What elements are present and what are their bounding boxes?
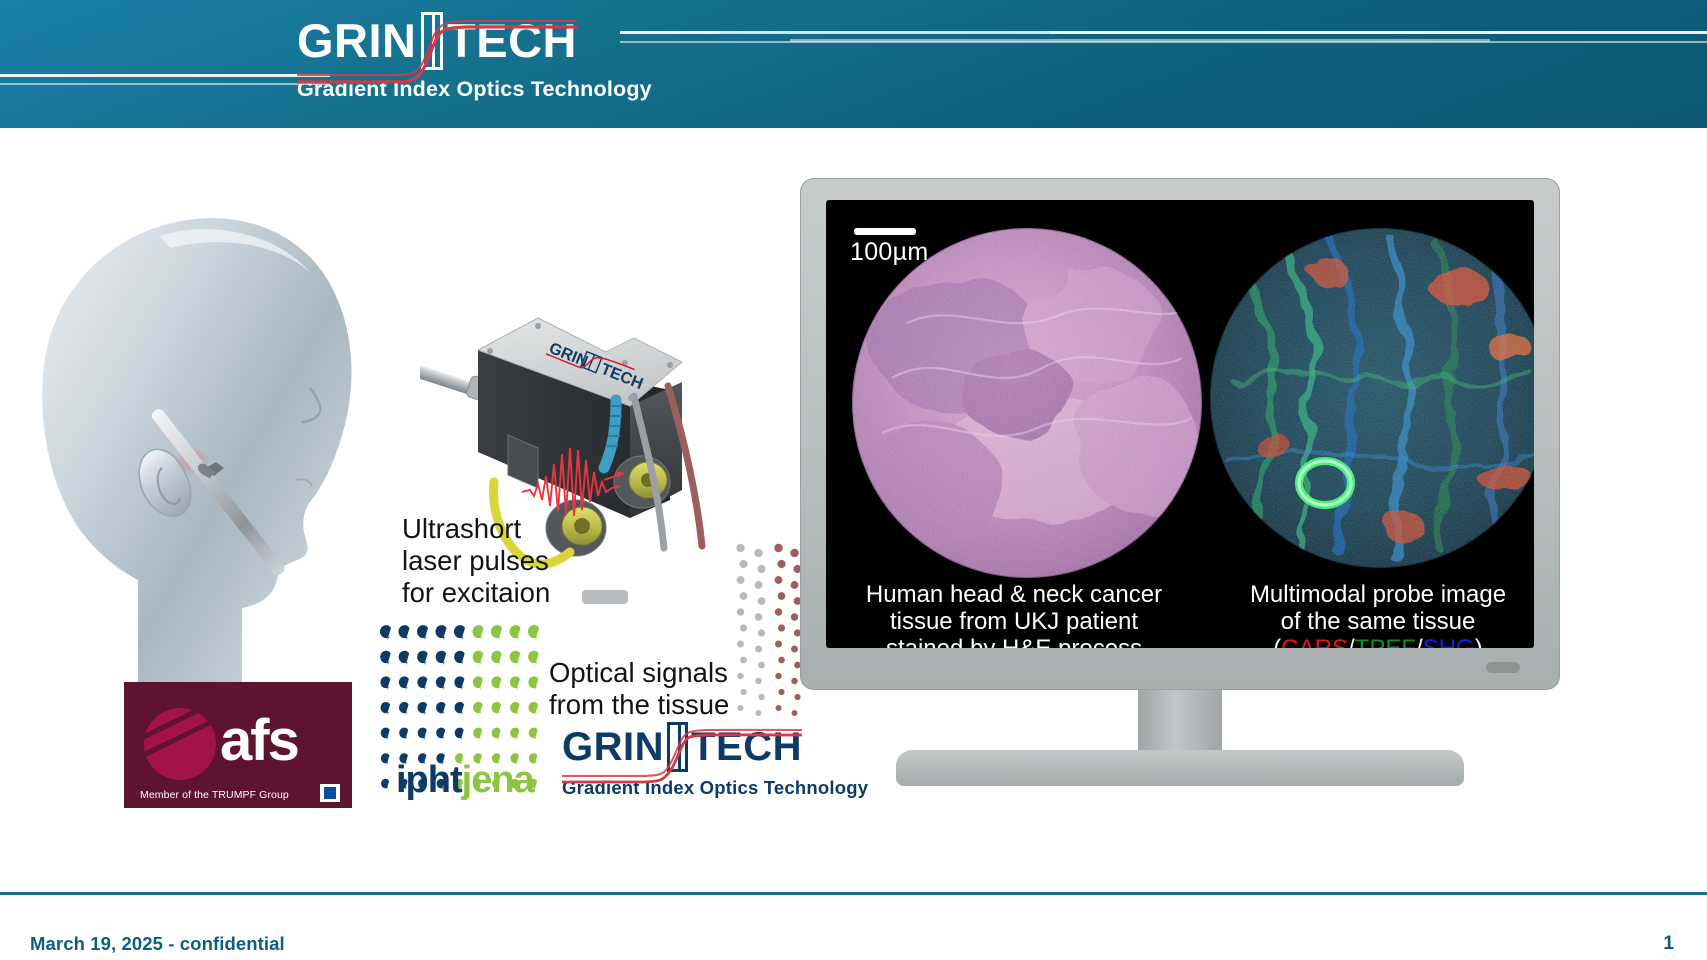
signal-dot	[755, 646, 762, 653]
modality-tpef: TPEF	[1355, 635, 1416, 648]
afs-member-line: Member of the TRUMPF Group	[140, 789, 289, 801]
slide-header: GRIN TECH Gradient Index Optics Technolo…	[0, 0, 1707, 128]
monitor-stand-base	[896, 750, 1464, 786]
caption-right: Multimodal probe image of the same tissu…	[1208, 582, 1534, 648]
signal-dot	[778, 657, 785, 664]
modality-cars: CARS	[1281, 635, 1348, 648]
signal-arc-glyph	[528, 676, 538, 690]
signal-dot	[740, 592, 748, 600]
afs-wordmark: afs	[220, 712, 298, 770]
signal-dot	[791, 646, 798, 653]
signal-dot	[757, 565, 765, 573]
label-signals: Optical signals from the tissue	[549, 657, 729, 721]
grintech-tagline: Gradient Index Optics Technology	[297, 77, 577, 102]
microscopy-image-multimodal	[1210, 228, 1534, 568]
signal-dot	[739, 560, 747, 568]
signal-dot	[737, 576, 745, 584]
signal-arc-glyph	[509, 625, 520, 640]
header-rule-right-4	[790, 39, 1490, 42]
signal-arc-glyph	[381, 753, 390, 765]
signal-dot	[778, 624, 785, 631]
signal-dot	[738, 705, 744, 711]
modality-sep-2: /	[1416, 635, 1423, 648]
signal-arc-glyph	[491, 651, 502, 665]
multimodal-image-svg	[1210, 228, 1534, 568]
signal-dot	[737, 641, 744, 648]
signal-arc-glyph	[510, 651, 521, 665]
microscopy-image-he	[852, 228, 1202, 578]
caption-right-line1: Multimodal probe image	[1208, 582, 1534, 609]
signal-dot	[775, 673, 781, 679]
signal-dot	[755, 678, 761, 684]
modality-shg: SHG	[1423, 635, 1475, 648]
signal-arc-glyph	[473, 651, 484, 665]
signal-dot	[790, 549, 798, 557]
signal-arc-glyph	[399, 676, 409, 690]
signal-arc-glyph	[417, 676, 427, 690]
caption-left: Human head & neck cancer tissue from UKJ…	[844, 582, 1184, 648]
scale-bar	[854, 228, 916, 235]
grintech-bottom-gradient-box	[667, 722, 688, 772]
signal-dot	[756, 710, 762, 716]
signal-arc-glyph	[380, 676, 390, 690]
slide-footer: March 19, 2025 - confidential 1	[0, 898, 1707, 960]
signal-arc-glyph	[399, 651, 410, 665]
footer-page-number: 1	[1663, 933, 1674, 955]
grintech-bottom-word-tech: TECH	[691, 729, 802, 765]
signal-dot	[758, 629, 765, 636]
signal-dot	[736, 544, 744, 552]
signal-dot-columns	[722, 540, 802, 730]
header-rule-left-2	[0, 83, 330, 85]
afs-logo: afs Member of the TRUMPF Group	[124, 682, 352, 808]
signal-arc-glyph	[473, 676, 483, 690]
signal-dot	[740, 657, 747, 664]
signal-arc-glyph	[398, 625, 409, 640]
slide: GRIN TECH Gradient Index Optics Technolo…	[0, 0, 1707, 960]
header-rule-left-1	[0, 74, 330, 77]
laser-pulse-waveform-icon	[520, 440, 630, 520]
monitor-stand-neck	[1138, 690, 1222, 756]
signal-dot	[758, 597, 766, 605]
signal-arc-glyph	[381, 702, 391, 715]
he-image-svg	[852, 228, 1202, 578]
signal-arc-glyph	[381, 779, 389, 790]
signal-dot	[791, 581, 799, 589]
grintech-bottom-tagline: Gradient Index Optics Technology	[562, 777, 802, 799]
signal-dot	[778, 592, 786, 600]
signal-dot	[755, 581, 763, 589]
signal-dot	[791, 678, 797, 684]
caption-right-modalities: (CARS/TPEF/SHG)	[1208, 636, 1534, 648]
trumpf-mark-icon	[320, 784, 340, 802]
signal-dot	[776, 705, 782, 711]
signal-arc-glyph	[380, 625, 391, 640]
signal-arc-glyph	[435, 625, 446, 640]
grintech-bottom-box-divider	[678, 725, 681, 769]
pulse-arrow-head	[616, 471, 624, 478]
signal-dot	[792, 710, 798, 716]
signal-dot	[775, 576, 783, 584]
ipht-jena-logo: iphtjena	[396, 712, 546, 802]
ipht-word-part-a: ipht	[396, 759, 462, 801]
signal-dot	[791, 613, 798, 620]
ipht-wordmark: iphtjena	[396, 759, 534, 802]
signal-arc-glyph	[381, 728, 390, 740]
signal-arc-glyph	[528, 651, 539, 665]
scale-bar-label: 100µm	[850, 238, 928, 267]
signal-dot	[754, 549, 762, 557]
signal-arc-glyph	[436, 651, 447, 665]
signal-arc-glyph	[472, 625, 483, 640]
signal-arc-glyph	[454, 625, 465, 640]
fiber-ferrule	[582, 590, 628, 604]
signal-arc-glyph	[417, 625, 428, 640]
label-excitation: Ultrashort laser pulses for excitaion	[402, 513, 550, 609]
signal-arc-glyph	[436, 676, 446, 690]
grintech-word-tech: TECH	[447, 20, 577, 62]
signal-dot	[758, 662, 765, 669]
signal-dot	[737, 608, 744, 615]
signal-dot	[758, 694, 764, 700]
modality-sep-1: /	[1348, 635, 1355, 648]
head-silhouette	[42, 218, 351, 762]
footer-divider	[0, 892, 1707, 895]
signal-arc-glyph	[380, 651, 391, 665]
afs-sphere-icon	[144, 708, 216, 780]
grintech-box-divider	[432, 15, 435, 67]
grintech-bottom-row: GRIN TECH	[562, 722, 802, 772]
signal-dot	[737, 673, 743, 679]
signal-dot	[740, 624, 747, 631]
signal-arc-glyph	[510, 676, 520, 690]
signal-dot	[774, 544, 782, 552]
caption-right-line2: of the same tissue	[1208, 609, 1534, 636]
grintech-logo-bottom: GRIN TECH Gradient Index Optics Technolo…	[562, 722, 802, 810]
ipht-word-part-b: jena	[462, 759, 534, 801]
header-rule-right-2	[720, 31, 1050, 34]
signal-dot	[740, 689, 746, 695]
grintech-bottom-word-grin: GRIN	[562, 729, 664, 765]
paren-close: )	[1475, 635, 1483, 648]
monitor-power-indicator	[1486, 662, 1520, 673]
mannequin-head-illustration	[10, 150, 430, 770]
monitor-bezel: 100µm Human head & neck cancer tissue fr…	[800, 178, 1560, 690]
signal-dot	[755, 613, 762, 620]
signal-dot	[775, 608, 782, 615]
grintech-word-grin: GRIN	[297, 20, 417, 62]
monitor-screen: 100µm Human head & neck cancer tissue fr…	[826, 200, 1534, 648]
signal-arc-glyph	[528, 625, 539, 640]
grintech-logo-row: GRIN TECH	[297, 12, 577, 70]
footer-date-confidential: March 19, 2025 - confidential	[30, 933, 285, 955]
signal-dot	[778, 689, 784, 695]
signal-arc-glyph	[454, 676, 464, 690]
pulse-path	[522, 448, 620, 516]
signal-arc-glyph	[491, 625, 502, 640]
signal-dot	[775, 641, 782, 648]
grintech-logo-header: GRIN TECH Gradient Index Optics Technolo…	[297, 12, 577, 118]
grintech-gradient-box	[421, 12, 444, 70]
signal-arc-glyph	[454, 651, 465, 665]
monitor: 100µm Human head & neck cancer tissue fr…	[800, 178, 1560, 698]
head-svg	[10, 150, 430, 770]
signal-dot	[777, 560, 785, 568]
signal-arc-glyph	[417, 651, 428, 665]
signal-arc-glyph	[491, 676, 501, 690]
